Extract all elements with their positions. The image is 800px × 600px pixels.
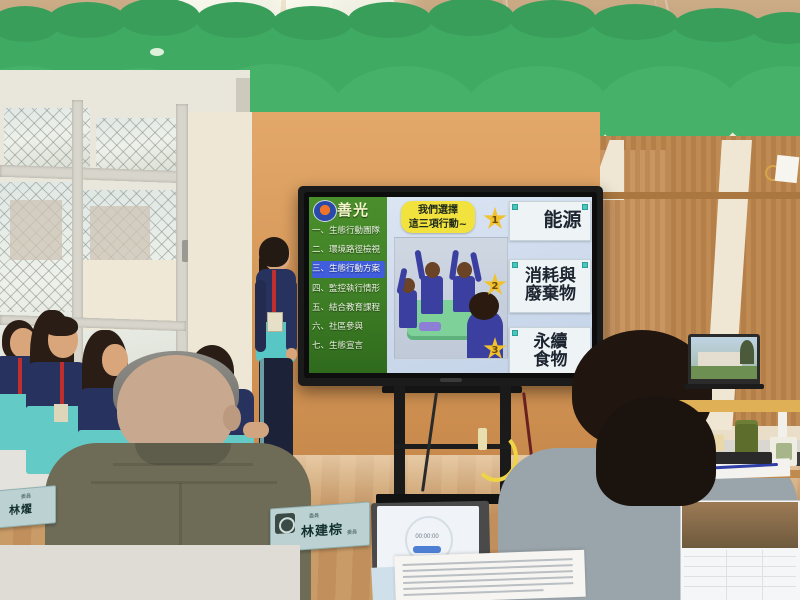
slide-speech-bubble: 我們選擇 這三項行動~	[401, 201, 475, 233]
slide-brand-title: 善光	[337, 199, 385, 221]
laptop-screen-tree	[740, 340, 754, 364]
nameplate-2-role-label: 委員	[21, 492, 31, 500]
front-left-table	[0, 545, 300, 600]
man1-collar	[135, 443, 231, 465]
man1-jacket-seam	[91, 481, 277, 484]
man1-ear	[223, 405, 241, 431]
tv-stand-leg-left	[394, 386, 405, 498]
bubble-line-2: 這三項行動~	[401, 218, 475, 232]
slide-menu-item-5[interactable]: 五、結合教育課程	[312, 300, 385, 317]
spreadsheet-column	[726, 550, 727, 600]
nameplate-role-label: 委員	[309, 512, 319, 520]
handout-document	[394, 550, 586, 600]
spreadsheet-row	[684, 556, 796, 557]
presenter-id-badge	[267, 312, 283, 332]
wall-paper-sheet	[775, 155, 800, 183]
photo-child-2	[421, 276, 443, 314]
action-card-1-text: 能源	[538, 202, 587, 240]
classroom-photo: 善光 一、生態行動團隊 二、環境路徑檢視 三、生態行動方案 四、監控執行情形 五…	[0, 0, 800, 600]
presenter-lanyard	[272, 270, 276, 316]
student-2-bangs	[44, 316, 78, 336]
nameplate-2-name: 林燿	[9, 500, 33, 518]
secondary-monitor-image	[682, 502, 798, 548]
window-security-mesh-2	[96, 118, 176, 176]
spreadsheet-row	[684, 576, 796, 577]
slide-menu-item-7[interactable]: 七、生態宣言	[312, 338, 385, 355]
star-badge-2-number: 2	[483, 273, 507, 297]
photo-child-2-head	[425, 262, 440, 278]
action-card-2: 消耗與 廢棄物	[509, 259, 591, 313]
action-card-2-line-2: 廢棄物	[525, 286, 576, 304]
spreadsheet-row	[684, 586, 796, 587]
card-dot-icon	[512, 204, 518, 210]
star-badge-3-number: 3	[483, 337, 507, 361]
wood-trim	[596, 192, 800, 199]
photo-child-3-head	[457, 262, 472, 278]
foreground-head-silhouette	[596, 396, 716, 506]
star-badge-1-number: 1	[483, 207, 507, 231]
slide-menu-item-1[interactable]: 一、生態行動團隊	[312, 223, 385, 240]
tv-brand-logo	[440, 378, 462, 382]
doc-text-line	[403, 582, 573, 590]
tablet-status-text: 00:00:00	[405, 532, 449, 542]
doc-text-line	[404, 589, 544, 596]
action-card-2-text: 消耗與 廢棄物	[514, 260, 587, 312]
slide-menu-item-6[interactable]: 六、社區參與	[312, 319, 385, 336]
nameplate-name: 林建棕	[301, 518, 343, 540]
man1-jacket-seam-2	[113, 463, 253, 466]
laptop-screen-foliage	[691, 366, 757, 379]
outside-building	[10, 200, 62, 260]
laptop-keyboard-base[interactable]	[684, 384, 764, 389]
presenter-arm-front	[286, 280, 297, 352]
bubble-line-1: 我們選擇	[401, 201, 475, 218]
nameplate-suffix: 委員	[347, 528, 357, 536]
slide-sidebar: 善光 一、生態行動團隊 二、環境路徑檢視 三、生態行動方案 四、監控執行情形 五…	[309, 197, 387, 373]
slide-menu-item-3[interactable]: 三、生態行動方案	[312, 261, 385, 278]
tablet-action-button[interactable]	[413, 546, 441, 553]
spreadsheet-column	[762, 550, 763, 600]
presenter-hair	[259, 237, 289, 267]
spreadsheet-row	[684, 566, 796, 567]
presenter-arm-back	[255, 280, 266, 352]
photo-child-1	[399, 290, 417, 328]
school-crest-icon	[313, 200, 337, 222]
slide-menu-item-2[interactable]: 二、環境路徑檢視	[312, 242, 385, 259]
photo-pencil-case	[419, 322, 441, 331]
slide-menu-item-4[interactable]: 四、監控執行情形	[312, 281, 385, 298]
photo-child-2-arm	[414, 250, 425, 281]
action-card-1: 能源	[509, 201, 591, 241]
nameplate-lin-yao: 委員 林燿	[0, 485, 56, 529]
outside-building-2	[90, 206, 150, 260]
